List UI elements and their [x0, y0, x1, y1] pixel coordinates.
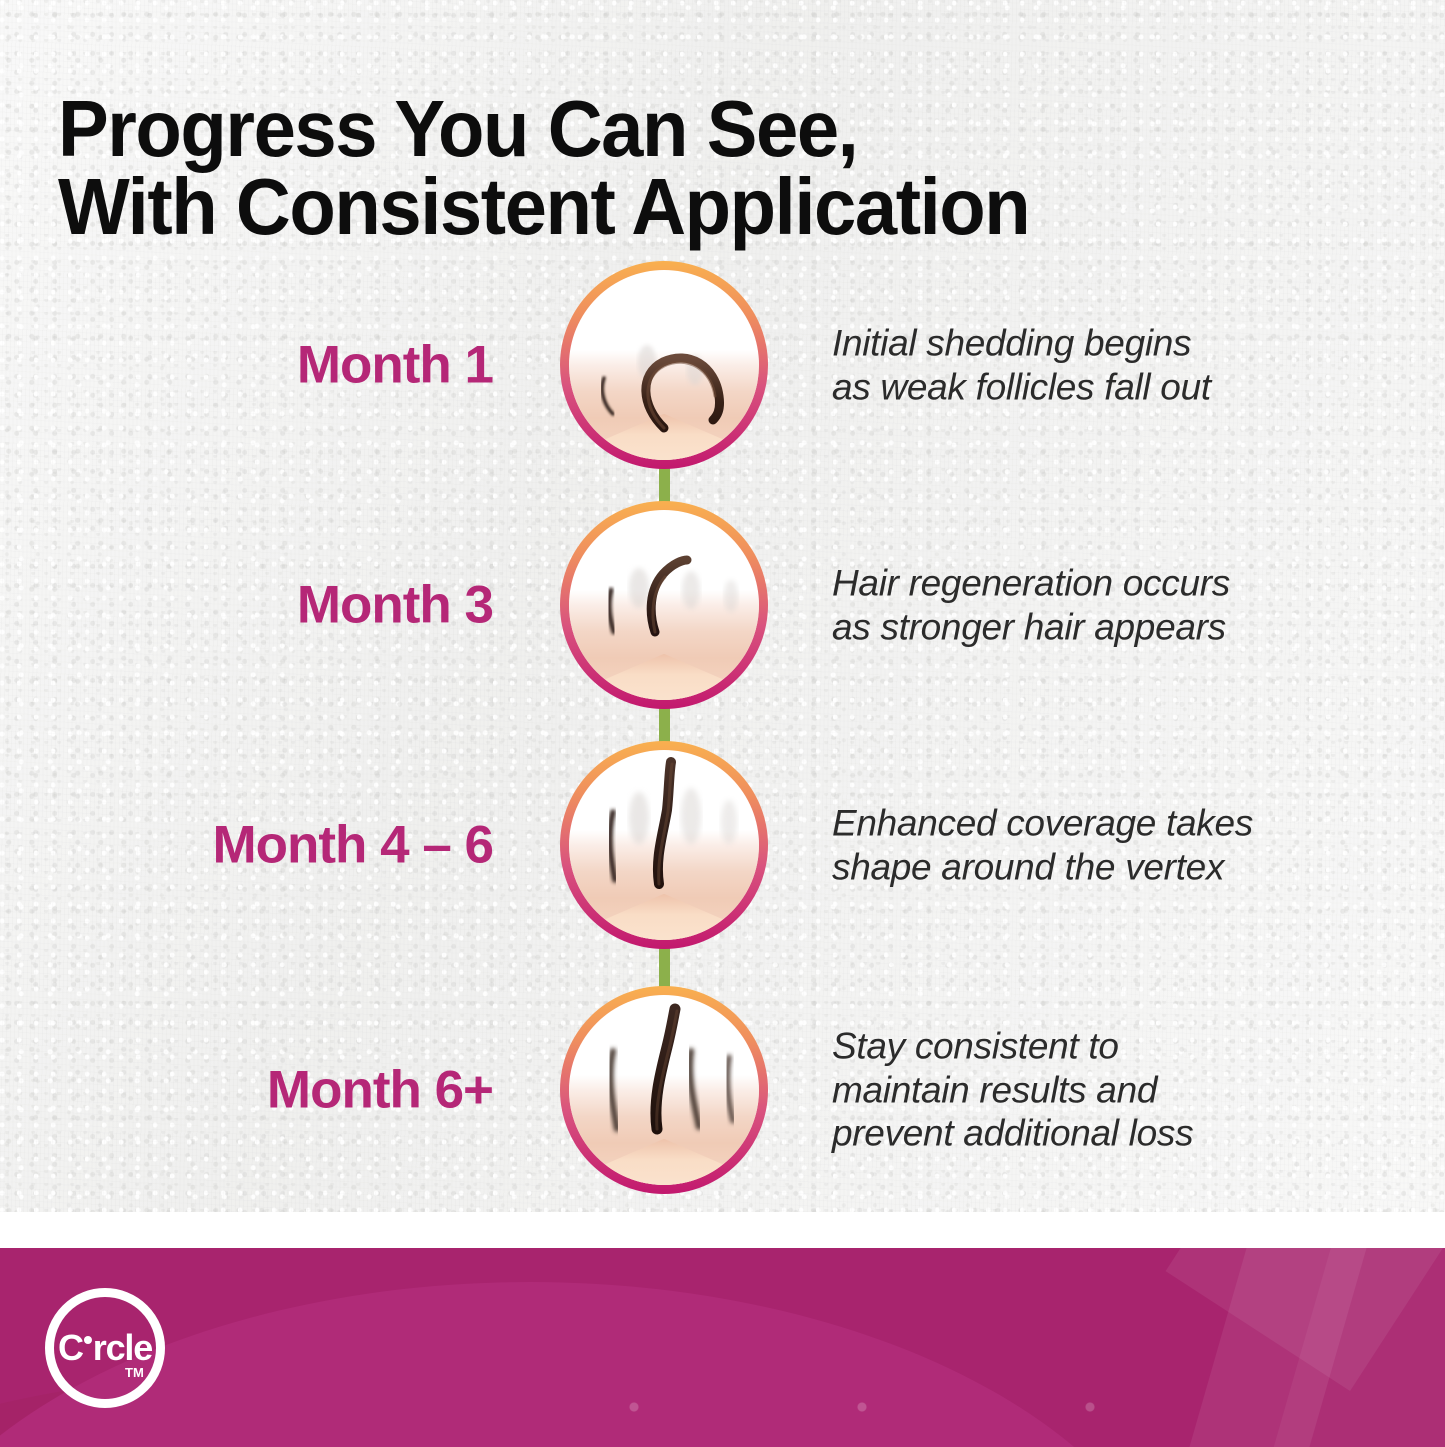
- timeline-step-description: Initial shedding begins as weak follicle…: [832, 321, 1372, 408]
- brand-prefix: C: [58, 1327, 83, 1368]
- timeline-step[interactable]: Month 6+: [0, 985, 1445, 1195]
- timeline-step-month: Month 1: [297, 335, 493, 396]
- timeline: Month 1: [0, 250, 1445, 1210]
- hair-illustration: [569, 995, 759, 1185]
- brand-name: Crcle: [58, 1327, 152, 1369]
- apostrophe-dot-icon: [84, 1336, 92, 1344]
- timeline-step-description: Enhanced coverage takes shape around the…: [832, 801, 1372, 888]
- timeline-step[interactable]: Month 3: [0, 500, 1445, 710]
- follicle-full-growth-icon: [560, 986, 768, 1194]
- brand-suffix: rcle: [93, 1327, 152, 1368]
- timeline-step[interactable]: Month 1: [0, 260, 1445, 470]
- footer-bar: [0, 1248, 1445, 1447]
- circle-logo[interactable]: Crcle: [45, 1288, 165, 1408]
- follicle-regrowth-icon: [560, 501, 768, 709]
- timeline-step-description: Stay consistent to maintain results and …: [832, 1025, 1372, 1156]
- trademark-mark: TM: [125, 1365, 144, 1380]
- hair-illustration: [569, 270, 759, 460]
- hair-illustration: [569, 510, 759, 700]
- timeline-step-description: Hair regeneration occurs as stronger hai…: [832, 561, 1372, 648]
- follicle-shedding-icon: [560, 261, 768, 469]
- footer-dot-pattern: [520, 1308, 1300, 1418]
- timeline-step-month: Month 3: [297, 575, 493, 636]
- hair-illustration: [569, 750, 759, 940]
- page-title: Progress You Can See, With Consistent Ap…: [58, 90, 1246, 247]
- timeline-step[interactable]: Month 4 – 6: [0, 740, 1445, 950]
- follicle-coverage-icon: [560, 741, 768, 949]
- timeline-step-month: Month 4 – 6: [212, 815, 493, 876]
- separator-band: [0, 1212, 1445, 1248]
- timeline-step-month: Month 6+: [267, 1060, 493, 1121]
